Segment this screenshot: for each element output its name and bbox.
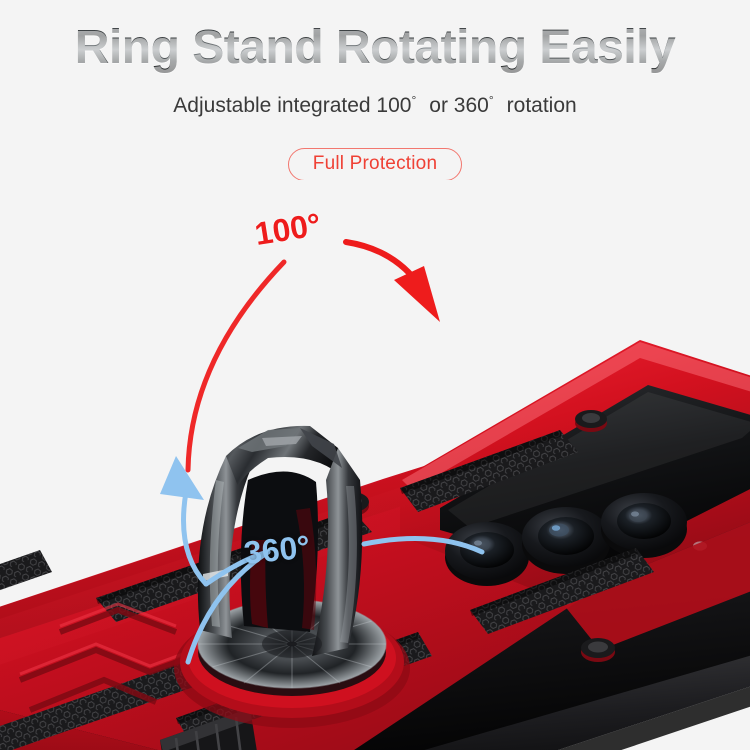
degree-symbol-2: ° xyxy=(489,93,494,107)
status-badge: Full Protection xyxy=(288,148,462,181)
degree-symbol-1: ° xyxy=(411,93,416,107)
product-image xyxy=(0,180,750,750)
page-title: Ring Stand Rotating Easily xyxy=(0,22,750,75)
case-stud-3 xyxy=(581,638,615,662)
badge-container: Full Protection xyxy=(0,148,750,181)
case-stud-2 xyxy=(575,410,607,432)
subtitle-text-3: rotation xyxy=(507,94,577,117)
camera-lens-3 xyxy=(601,493,687,558)
subtitle-text-2: or 360 xyxy=(429,94,489,117)
camera-lens-1 xyxy=(445,522,529,586)
page-subtitle: Adjustable integrated 100°or 360°rotatio… xyxy=(0,93,750,118)
subtitle-text-1: Adjustable integrated 100 xyxy=(173,94,411,117)
product-feature-banner: Ring Stand Rotating Easily Adjustable in… xyxy=(0,0,750,750)
